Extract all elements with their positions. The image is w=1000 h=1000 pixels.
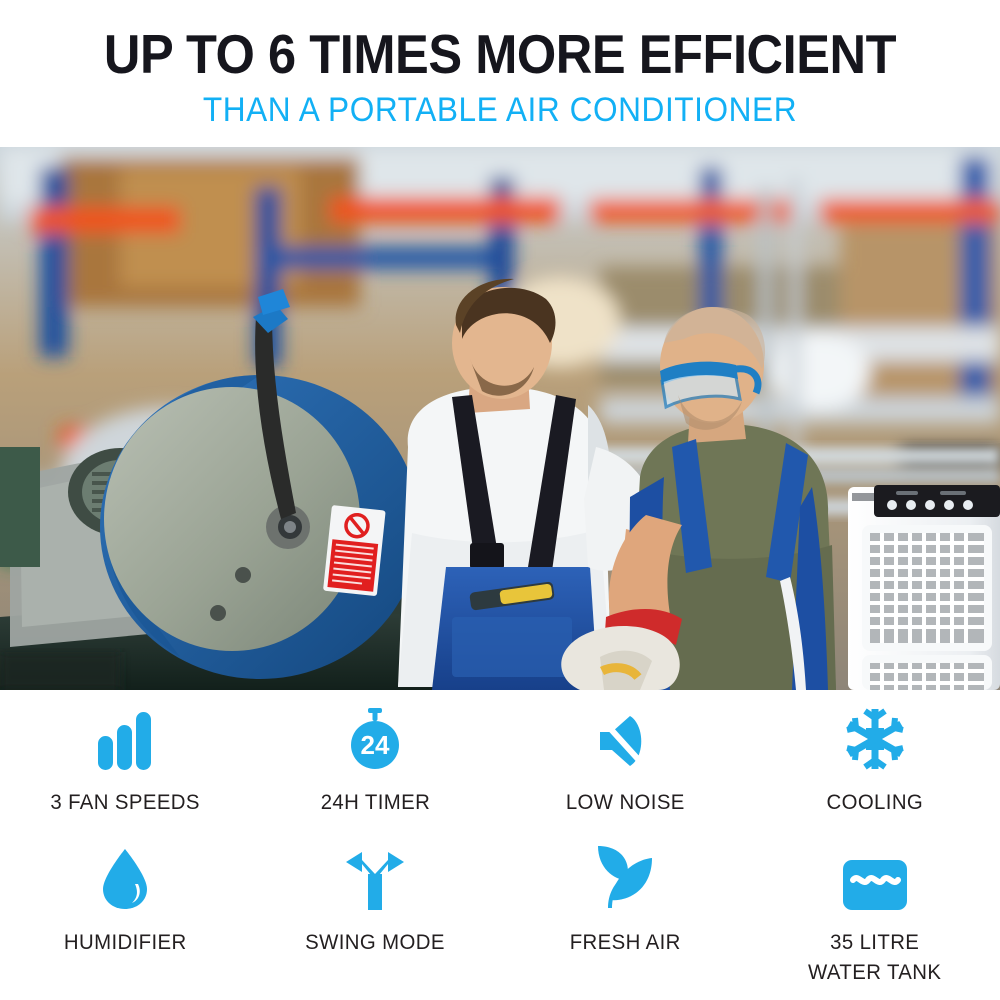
feature-label: COOLING <box>827 788 924 818</box>
timer-24h-icon: 24 <box>344 708 406 770</box>
feature-label: 35 LITRE WATER TANK <box>808 928 941 988</box>
feature-item-humidifier: HUMIDIFIER <box>0 840 250 988</box>
fan-speed-bars-icon <box>94 708 156 770</box>
hero-photo <box>0 147 1000 690</box>
feature-item-fan-speeds: 3 FAN SPEEDS <box>0 700 250 840</box>
mute-speaker-icon <box>594 708 656 770</box>
feature-item-swing-mode: SWING MODE <box>250 840 500 988</box>
header: UP TO 6 TIMES MORE EFFICIENT THAN A PORT… <box>0 0 1000 130</box>
snowflake-icon <box>844 708 906 770</box>
feature-label: 24H TIMER <box>320 788 430 818</box>
feature-label: 3 FAN SPEEDS <box>50 788 200 818</box>
feature-label: SWING MODE <box>305 928 445 958</box>
feature-label: HUMIDIFIER <box>64 928 187 958</box>
feature-item-timer: 24 24H TIMER <box>250 700 500 840</box>
svg-text:24: 24 <box>361 730 390 760</box>
feature-label: FRESH AIR <box>569 928 680 958</box>
feature-item-fresh-air: FRESH AIR <box>500 840 750 988</box>
swing-arrows-icon <box>342 848 408 910</box>
page-subtitle: THAN A PORTABLE AIR CONDITIONER <box>35 91 965 130</box>
feature-grid: 3 FAN SPEEDS 24 24H TIMER <box>0 700 1000 988</box>
feature-label: LOW NOISE <box>566 788 685 818</box>
page-title: UP TO 6 TIMES MORE EFFICIENT <box>40 26 960 82</box>
feature-item-cooling: COOLING <box>750 700 1000 840</box>
feature-item-water-tank: 35 LITRE WATER TANK <box>750 840 1000 988</box>
feature-item-low-noise: LOW NOISE <box>500 700 750 840</box>
leaves-icon <box>594 848 656 910</box>
water-drop-icon <box>101 848 149 910</box>
water-tank-icon <box>843 848 907 910</box>
product-feature-banner: UP TO 6 TIMES MORE EFFICIENT THAN A PORT… <box>0 0 1000 1000</box>
